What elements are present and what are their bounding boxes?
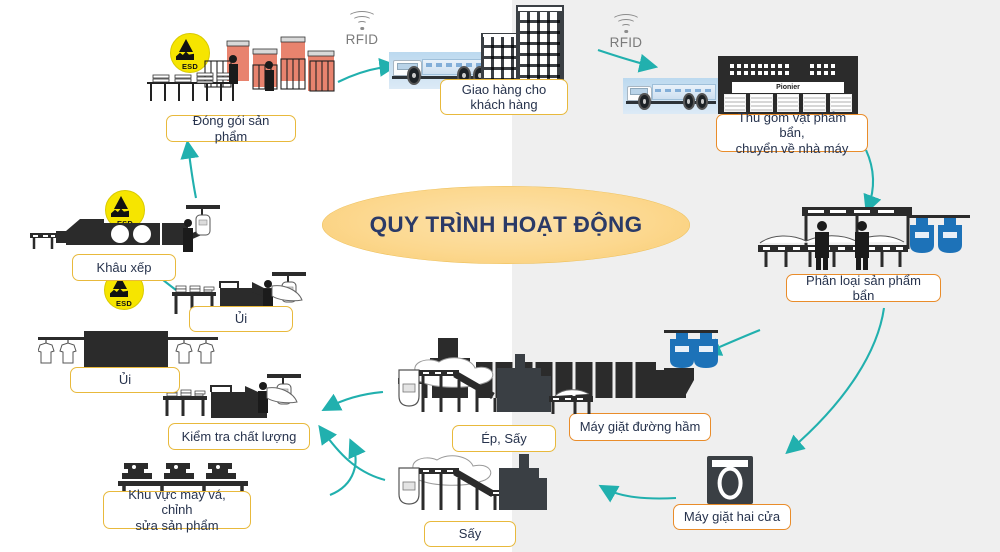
rfid-wave-icon: [341, 11, 383, 31]
factory-sign: Pionier: [732, 82, 844, 92]
stage-label-ep-say: Ép, Sấy: [452, 425, 556, 452]
stage-label-khau-xep: Khâu xếp: [72, 254, 176, 281]
packing-line-illustration: [145, 35, 340, 110]
stage-label-kiem-tra: Kiểm tra chất lượng: [168, 423, 310, 450]
factory-window-row: [764, 71, 789, 75]
press-dry-illustration: [393, 352, 593, 422]
stage-label-ui-2: Ủi: [70, 367, 180, 393]
stage-label-giao-hang: Giao hàng cho khách hàng: [440, 79, 568, 115]
truck-wheel: [696, 93, 708, 109]
tower-cap: [518, 7, 562, 11]
stage-label-may-va: Khu vực may vá, chỉnh sửa sản phẩm: [103, 491, 251, 529]
stage-label-phan-loai: Phân loại sản phẩm bẩn: [786, 274, 941, 302]
factory-window-row: [810, 71, 835, 75]
esd-label: ESD: [104, 299, 144, 308]
truck-wheel: [683, 93, 695, 109]
stage-label-dong-goi: Đóng gói sản phẩm: [166, 115, 296, 142]
rfid-wave-icon: [605, 14, 647, 34]
quality-check-illustration: [163, 370, 313, 430]
stage-label-may-giat-hai-cua: Máy giặt hai cửa: [673, 504, 791, 530]
tower-windows: [520, 12, 560, 86]
truck-wheel: [638, 93, 650, 109]
two-door-washer-icon: [707, 456, 753, 504]
washer-drum: [718, 466, 743, 499]
factory-window-row: [730, 71, 762, 75]
process-flow-diagram: QUY TRÌNH HOẠT ĐỘNG: [0, 0, 1000, 552]
truck-wheel: [407, 66, 421, 84]
dryer-illustration: [393, 452, 553, 522]
rfid-tag-2: RFID: [600, 14, 652, 50]
factory-window-row: [764, 64, 789, 68]
stage-label-say: Sấy: [424, 521, 516, 547]
factory-window-row: [810, 64, 835, 68]
collection-truck-photo: [623, 78, 719, 114]
sorting-station-illustration: [758, 205, 973, 275]
rfid-tag-1: RFID: [336, 11, 388, 47]
rfid-label-1: RFID: [336, 32, 388, 47]
rfid-label-2: RFID: [600, 35, 652, 50]
office-tower-large: [516, 5, 564, 89]
folding-station-illustration: [30, 205, 220, 260]
stage-label-thu-gom: Thu gom vật phẩm bẩn, chuyển về nhà máy: [716, 114, 868, 152]
factory-building: Pionier: [718, 56, 858, 114]
factory-window-row: [730, 64, 762, 68]
